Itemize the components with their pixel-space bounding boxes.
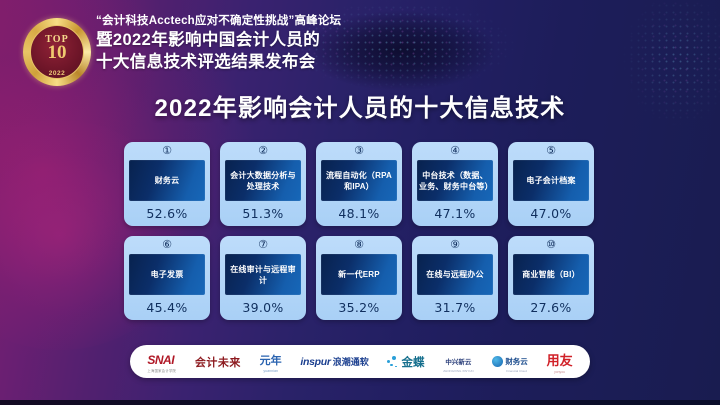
ranking-card-7[interactable]: ⑦ 在线审计与远程审计 39.0% [220,236,306,320]
technology-name-banner: 电子发票 [129,254,205,295]
sponsor-logo-yuannian[interactable]: 元年 yuannian [260,351,282,373]
page-title: 2022年影响会计人员的十大信息技术 [0,88,720,123]
rank-number: ② [258,145,268,158]
kingdee-dots-icon [387,356,399,368]
sponsor-logo-caiwuyun[interactable]: 财务云 Financial Cloud [492,351,528,373]
rank-number: ⑧ [354,239,364,252]
sponsor-subtitle: Financial Cloud [505,369,528,373]
bottom-edge-strip [0,400,720,405]
sponsor-subtitle: yuannian [260,369,282,373]
technology-name: 新一代ERP [336,269,382,280]
ranking-card-8[interactable]: ⑧ 新一代ERP 35.2% [316,236,402,320]
percentage-value: 27.6% [530,300,571,315]
sponsor-name: 元年 [260,355,282,367]
rank-number: ⑩ [546,239,556,252]
sponsor-logo-bar: SNAI 上海国家会计学院 会计未来 元年 yuannian inspur 浪潮… [130,345,590,378]
technology-name: 中台技术（数据、业务、财务中台等） [417,170,493,192]
technology-name: 会计大数据分析与处理技术 [225,170,301,192]
sponsor-name: 财务云 [505,357,528,366]
technology-name: 在线审计与远程审计 [225,264,301,286]
event-header: “会计科技Acctech应对不确定性挑战”高峰论坛 暨2022年影响中国会计人员… [96,14,526,73]
technology-name-banner: 会计大数据分析与处理技术 [225,160,301,201]
ranking-card-4[interactable]: ④ 中台技术（数据、业务、财务中台等） 47.1% [412,142,498,226]
sponsor-logo-snai[interactable]: SNAI 上海国家会计学院 [147,351,176,373]
event-title-line-2: 暨2022年影响中国会计人员的 [96,29,526,51]
technology-name: 流程自动化（RPA和IPA） [321,170,397,192]
ranking-card-3[interactable]: ③ 流程自动化（RPA和IPA） 48.1% [316,142,402,226]
technology-ranking-grid: ① 财务云 52.6% ② 会计大数据分析与处理技术 51.3% ③ 流程自动化… [124,142,594,320]
technology-name-banner: 财务云 [129,160,205,201]
top-10-award-badge: TOP 10 2022 [23,18,91,86]
technology-name: 电子会计档案 [524,175,577,186]
slide-root: TOP 10 2022 “会计科技Acctech应对不确定性挑战”高峰论坛 暨2… [0,0,720,405]
ranking-card-9[interactable]: ⑨ 在线与远程办公 31.7% [412,236,498,320]
sponsor-name: 金蝶 [401,354,424,370]
sponsor-logo-kuaijiweilai[interactable]: 会计未来 [195,354,241,370]
ranking-card-2[interactable]: ② 会计大数据分析与处理技术 51.3% [220,142,306,226]
rank-number: ⑥ [162,239,172,252]
technology-name-banner: 在线与远程办公 [417,254,493,295]
sponsor-subtitle: 上海国家会计学院 [147,369,176,373]
sponsor-name: 用友 [547,353,573,368]
rank-number: ④ [450,145,460,158]
technology-name-banner: 中台技术（数据、业务、财务中台等） [417,160,493,201]
event-title-line-3: 十大信息技术评选结果发布会 [96,51,526,73]
ranking-card-5[interactable]: ⑤ 电子会计档案 47.0% [508,142,594,226]
sponsor-name: 会计未来 [195,354,241,370]
sponsor-name: 中兴新云 [445,359,471,366]
technology-name: 商业智能（BI） [520,269,582,280]
rank-number: ⑤ [546,145,556,158]
sponsor-logo-inspur[interactable]: inspur 浪潮通软 [300,355,368,368]
percentage-value: 48.1% [338,206,379,221]
ranking-card-1[interactable]: ① 财务云 52.6% [124,142,210,226]
badge-rank-text: 10 [23,43,91,62]
percentage-value: 39.0% [242,300,283,315]
percentage-value: 35.2% [338,300,379,315]
technology-name-banner: 新一代ERP [321,254,397,295]
percentage-value: 47.1% [434,206,475,221]
sponsor-subtitle: yonyou [547,370,573,374]
percentage-value: 45.4% [146,300,187,315]
rank-number: ⑨ [450,239,460,252]
technology-name-banner: 电子会计档案 [513,160,589,201]
cloud-circle-icon [492,356,503,367]
sponsor-subtitle: 浪潮通软 [333,355,369,368]
sponsor-name: SNAI [147,353,174,367]
percentage-value: 52.6% [146,206,187,221]
ranking-card-10[interactable]: ⑩ 商业智能（BI） 27.6% [508,236,594,320]
technology-name: 电子发票 [149,269,186,280]
sponsor-logo-yonyou[interactable]: 用友 yonyou [547,350,573,374]
event-subtitle-line-1: “会计科技Acctech应对不确定性挑战”高峰论坛 [96,14,526,29]
sponsor-logo-zhongxingxinyun[interactable]: 中兴新云 ZHONGXING XINYUN [443,351,473,373]
percentage-value: 31.7% [434,300,475,315]
technology-name-banner: 流程自动化（RPA和IPA） [321,160,397,201]
ranking-card-6[interactable]: ⑥ 电子发票 45.4% [124,236,210,320]
sponsor-logo-kingdee[interactable]: 金蝶 [387,354,424,370]
dot-wave-pattern-right [600,0,720,155]
percentage-value: 47.0% [530,206,571,221]
badge-year-text: 2022 [23,70,91,77]
rank-number: ① [162,145,172,158]
percentage-value: 51.3% [242,206,283,221]
sponsor-subtitle: ZHONGXING XINYUN [443,369,473,373]
technology-name: 在线与远程办公 [424,269,485,280]
technology-name-banner: 在线审计与远程审计 [225,254,301,295]
rank-number: ③ [354,145,364,158]
rank-number: ⑦ [258,239,268,252]
technology-name: 财务云 [153,175,182,186]
sponsor-name: inspur [300,356,330,368]
technology-name-banner: 商业智能（BI） [513,254,589,295]
